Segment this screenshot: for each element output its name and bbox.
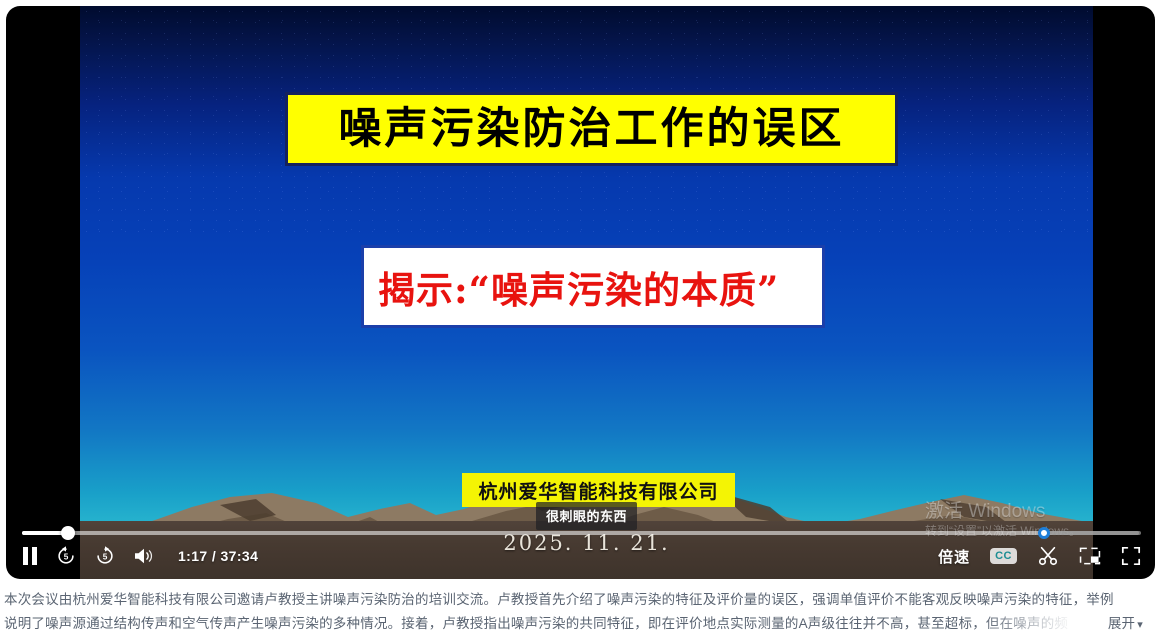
description-line-1: 本次会议由杭州爱华智能科技有限公司邀请卢教授主讲噪声污染防治的培训交流。卢教授首… xyxy=(4,588,1147,612)
player-control-bar[interactable]: 爱华智能在共享屏幕 5 5 xyxy=(6,517,1155,579)
svg-text:5: 5 xyxy=(64,552,69,561)
slide-subtitle-box: 揭示:“噪声污染的本质” xyxy=(361,245,825,328)
progress-bar[interactable] xyxy=(22,526,1139,540)
right-controls-group: 倍速 CC xyxy=(938,545,1141,567)
slide-subtitle-text: 揭示:“噪声污染的本质” xyxy=(378,260,779,314)
slide-title-text: 噪声污染防治工作的误区 xyxy=(339,108,845,151)
video-player[interactable]: 噪声污染防治工作的误区 揭示:“噪声污染的本质” 杭州爱华智能科技有限公司 20… xyxy=(6,6,1155,579)
video-frame[interactable]: 噪声污染防治工作的误区 揭示:“噪声污染的本质” 杭州爱华智能科技有限公司 20… xyxy=(80,6,1093,579)
pause-button[interactable] xyxy=(22,546,38,566)
volume-track[interactable] xyxy=(1038,531,1141,535)
video-description: 本次会议由杭州爱华智能科技有限公司邀请卢教授主讲噪声污染防治的培训交流。卢教授首… xyxy=(0,588,1161,637)
left-controls-group: 5 5 1:17 / 37:34 xyxy=(22,545,258,567)
scissors-clip-button[interactable] xyxy=(1037,545,1059,567)
volume-slider[interactable] xyxy=(1038,526,1141,540)
forward-5-button[interactable]: 5 xyxy=(94,545,116,567)
volume-thumb[interactable] xyxy=(1038,527,1050,539)
progress-thumb[interactable] xyxy=(61,526,75,540)
rewind-5-button[interactable]: 5 xyxy=(55,545,77,567)
expand-label: 展开 xyxy=(1108,616,1135,631)
volume-button[interactable] xyxy=(133,547,155,565)
svg-text:5: 5 xyxy=(103,552,108,561)
expand-description-button[interactable]: 展开▾ xyxy=(1102,612,1143,636)
closed-caption-button[interactable]: CC xyxy=(990,548,1017,564)
playback-speed-button[interactable]: 倍速 xyxy=(938,546,970,567)
slide-company-text: 杭州爱华智能科技有限公司 xyxy=(478,477,718,504)
time-display: 1:17 / 37:34 xyxy=(178,548,258,564)
description-line-2: 说明了噪声源通过结构传声和空气传声产生噪声污染的多种情况。接着，卢教授指出噪声污… xyxy=(4,616,1068,631)
picture-in-picture-button[interactable] xyxy=(1079,547,1101,565)
chevron-down-icon: ▾ xyxy=(1137,619,1143,631)
fullscreen-button[interactable] xyxy=(1121,546,1141,566)
description-line-2-row: 说明了噪声源通过结构传声和空气传声产生噪声污染的多种情况。接着，卢教授指出噪声污… xyxy=(4,612,1147,636)
progress-track[interactable] xyxy=(22,531,1139,535)
slide-title-banner: 噪声污染防治工作的误区 xyxy=(285,92,898,166)
